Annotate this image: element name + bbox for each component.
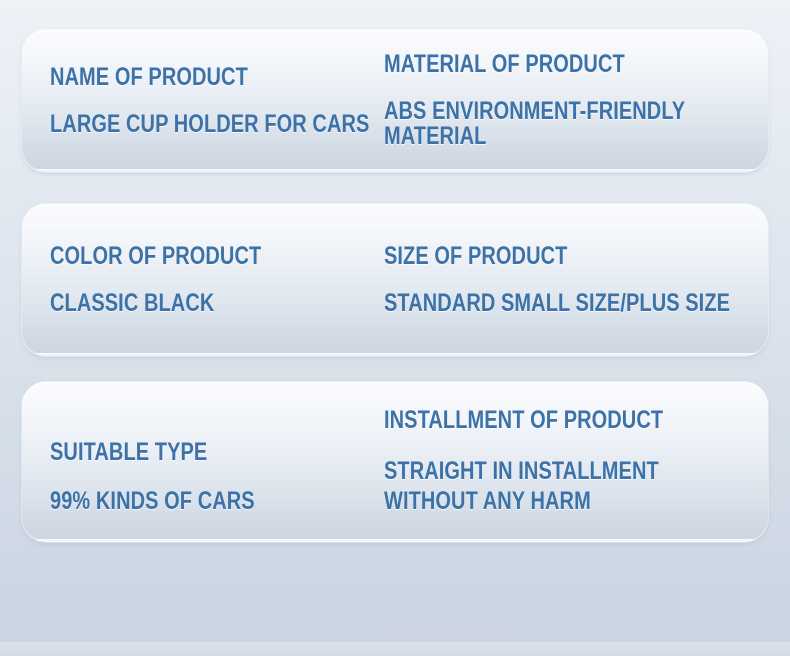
spec-column-left: SUITABLE TYPE 99% KINDS OF CARS bbox=[22, 382, 378, 542]
spec-column-left: NAME OF PRODUCT LARGE CUP HOLDER FOR CAR… bbox=[22, 30, 378, 172]
spec-column-left: COLOR OF PRODUCT CLASSIC BLACK bbox=[22, 204, 378, 356]
spec-label: MATERIAL OF PRODUCT bbox=[384, 52, 768, 78]
spec-card: NAME OF PRODUCT LARGE CUP HOLDER FOR CAR… bbox=[22, 30, 768, 172]
spec-column-right: SIZE OF PRODUCT STANDARD SMALL SIZE/PLUS… bbox=[378, 204, 768, 356]
spec-card-columns: COLOR OF PRODUCT CLASSIC BLACK SIZE OF P… bbox=[22, 204, 768, 356]
spec-label: NAME OF PRODUCT bbox=[50, 65, 378, 91]
spec-column-right: MATERIAL OF PRODUCT ABS ENVIRONMENT-FRIE… bbox=[378, 30, 768, 172]
spec-value: CLASSIC BLACK bbox=[50, 291, 378, 317]
spec-card-columns: SUITABLE TYPE 99% KINDS OF CARS INSTALLM… bbox=[22, 382, 768, 542]
spec-value: STANDARD SMALL SIZE/PLUS SIZE bbox=[384, 291, 768, 317]
spec-value: STRAIGHT IN INSTALLMENT WITHOUT ANY HARM bbox=[384, 457, 768, 516]
spec-card: SUITABLE TYPE 99% KINDS OF CARS INSTALLM… bbox=[22, 382, 768, 542]
spec-card: COLOR OF PRODUCT CLASSIC BLACK SIZE OF P… bbox=[22, 204, 768, 356]
spec-value: 99% KINDS OF CARS bbox=[50, 489, 378, 515]
spec-column-right: INSTALLMENT OF PRODUCT STRAIGHT IN INSTA… bbox=[378, 382, 768, 542]
product-spec-sheet: NAME OF PRODUCT LARGE CUP HOLDER FOR CAR… bbox=[0, 0, 790, 656]
spec-label: COLOR OF PRODUCT bbox=[50, 244, 378, 270]
spec-value: LARGE CUP HOLDER FOR CARS bbox=[50, 112, 378, 138]
spec-label: SUITABLE TYPE bbox=[50, 440, 378, 466]
spec-card-columns: NAME OF PRODUCT LARGE CUP HOLDER FOR CAR… bbox=[22, 30, 768, 172]
spec-label: SIZE OF PRODUCT bbox=[384, 244, 768, 270]
spec-value: ABS ENVIRONMENT-FRIENDLY MATERIAL bbox=[384, 99, 768, 150]
spec-label: INSTALLMENT OF PRODUCT bbox=[384, 408, 768, 434]
